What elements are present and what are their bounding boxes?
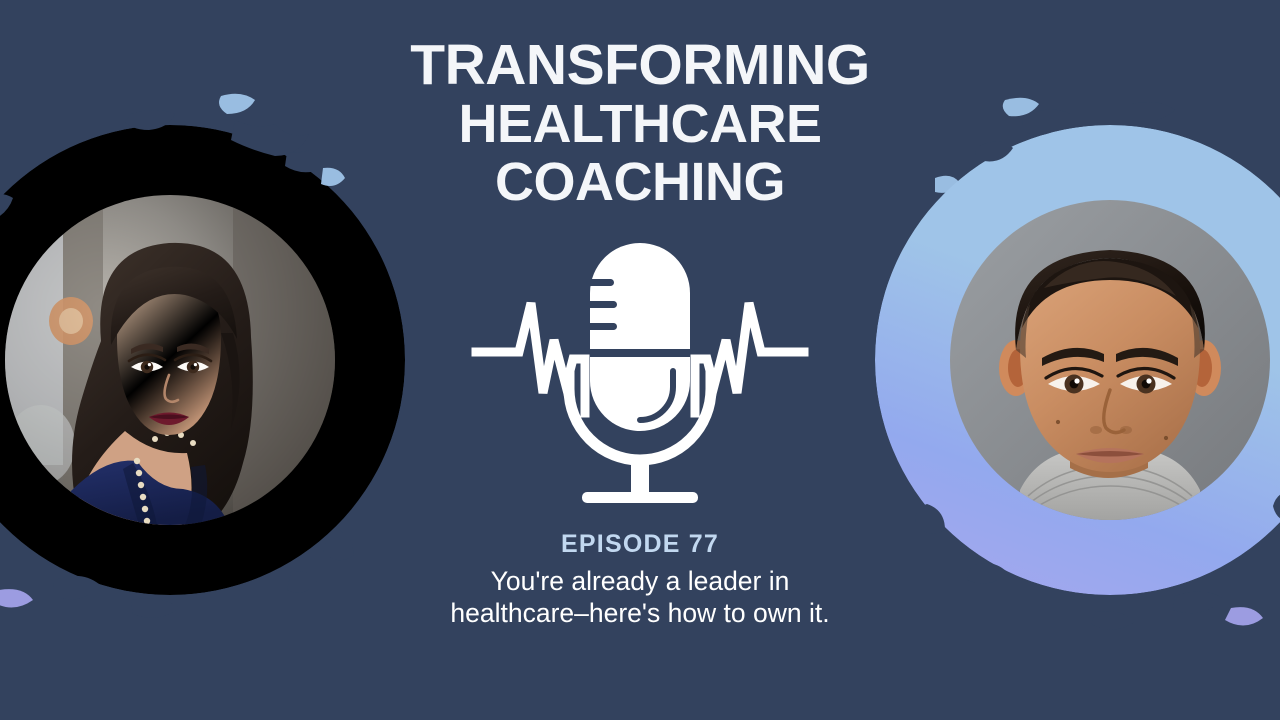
tagline-line-1: You're already a leader in (360, 566, 920, 598)
podcast-cover-art: TRANSFORMING HEALTHCARE COACHING (0, 0, 1280, 720)
episode-tagline: You're already a leader in healthcare–he… (360, 566, 920, 630)
title-line-3: COACHING (390, 153, 890, 212)
guest-photo-right (950, 200, 1270, 520)
brush-circle-frame-right (875, 60, 1280, 660)
tagline-line-2: healthcare–here's how to own it. (360, 598, 920, 630)
center-column: TRANSFORMING HEALTHCARE COACHING (390, 0, 890, 720)
title-line-1: TRANSFORMING (390, 36, 890, 95)
episode-label: EPISODE 77 (390, 530, 890, 559)
microphone-waveform-icon (390, 243, 890, 513)
guest-photo-left (5, 195, 335, 525)
brush-circle-frame-left (0, 60, 405, 660)
page-title: TRANSFORMING HEALTHCARE COACHING (390, 0, 890, 212)
title-line-2: HEALTHCARE (390, 95, 890, 154)
